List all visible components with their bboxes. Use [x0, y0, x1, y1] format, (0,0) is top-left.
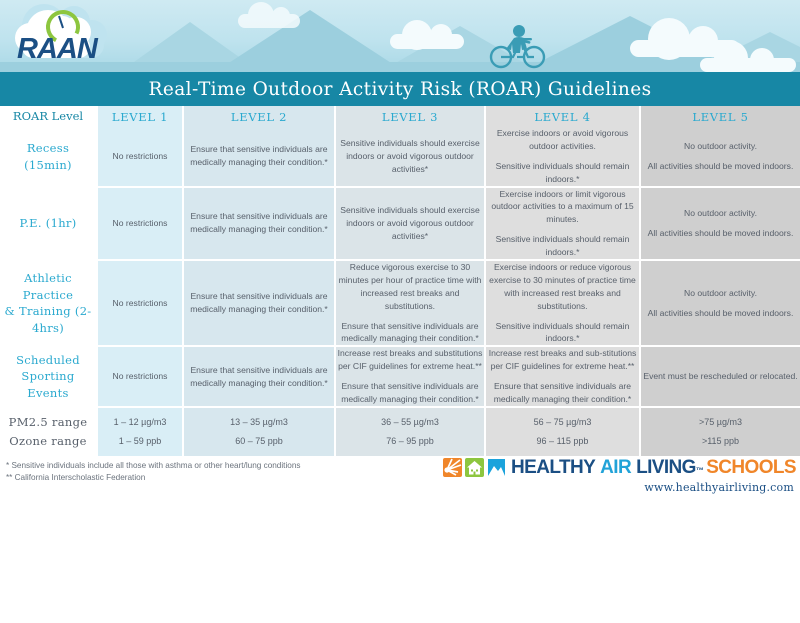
cell-text: Sensitive individuals should exercise in… — [336, 204, 484, 243]
cell-recess-level1: No restrictions — [97, 127, 183, 187]
cell-pe-level4: Exercise indoors or limit vigorous outdo… — [485, 187, 640, 260]
pm25-level3: 36 – 55 µg/m3 — [335, 407, 485, 432]
cell-athletic-level2: Ensure that sensitive individuals are me… — [183, 260, 335, 346]
column-header-level-4: LEVEL 4 — [485, 106, 640, 127]
column-header-roar-level: ROAR Level — [0, 106, 97, 127]
table-row: Recess (15min) No restrictions Ensure th… — [0, 127, 800, 187]
cell-text: Sensitive individuals should remain indo… — [486, 233, 639, 259]
cell-text: Exercise indoors or reduce vigorous exer… — [486, 261, 639, 313]
pm25-level1: 1 – 12 µg/m3 — [97, 407, 183, 432]
column-header-level-5: LEVEL 5 — [640, 106, 800, 127]
cell-text: Exercise indoors or limit vigorous outdo… — [486, 188, 639, 227]
cell-text: Increase rest breaks and substitutions p… — [336, 347, 484, 373]
cell-athletic-level3: Reduce vigorous exercise to 30 minutes p… — [335, 260, 485, 346]
cell-text: No outdoor activity. — [641, 207, 800, 220]
cell-pe-level3: Sensitive individuals should exercise in… — [335, 187, 485, 260]
cell-text: No restrictions — [98, 150, 182, 163]
cloud-icon — [700, 58, 796, 72]
footnote-line-1: * Sensitive individuals include all thos… — [6, 460, 300, 472]
house-icon — [465, 458, 484, 477]
website-url[interactable]: www.healthyairliving.com — [644, 481, 794, 494]
roar-guidelines-infographic: RAAN Real-Time Outdoor Activity Risk (RO… — [0, 0, 800, 623]
logo-word-schools: SCHOOLS — [706, 458, 796, 477]
cell-text: No restrictions — [98, 370, 182, 383]
row-label-line1: Recess — [0, 140, 96, 157]
cell-recess-level2: Ensure that sensitive individuals are me… — [183, 127, 335, 187]
row-label-scheduled-sporting-events: Scheduled Sporting Events — [0, 346, 97, 407]
cell-text: Ensure that sensitive individuals are me… — [184, 364, 334, 390]
row-label-recess: Recess (15min) — [0, 127, 97, 187]
page-title: Real-Time Outdoor Activity Risk (ROAR) G… — [149, 79, 652, 100]
cell-pe-level2: Ensure that sensitive individuals are me… — [183, 187, 335, 260]
ozone-level4: 96 – 115 ppb — [485, 432, 640, 456]
row-label-pe: P.E. (1hr) — [0, 187, 97, 260]
cell-athletic-level1: No restrictions — [97, 260, 183, 346]
cell-text: Sensitive individuals should exercise in… — [336, 137, 484, 176]
cell-events-level4: Increase rest breaks and sub-stitutions … — [485, 346, 640, 407]
cell-pe-level5: No outdoor activity. All activities shou… — [640, 187, 800, 260]
logo-wordmark: HEALTHY AIR LIVING ™ SCHOOLS — [511, 458, 796, 477]
cell-text: Ensure that sensitive individuals are me… — [486, 380, 639, 406]
cell-text: No restrictions — [98, 217, 182, 230]
healthy-air-living-schools-logo: HEALTHY AIR LIVING ™ SCHOOLS — [443, 458, 796, 477]
pm25-level5: >75 µg/m3 — [640, 407, 800, 432]
ozone-level5: >115 ppb — [640, 432, 800, 456]
ozone-level1: 1 – 59 ppb — [97, 432, 183, 456]
row-label-athletic-practice: Athletic Practice & Training (2-4hrs) — [0, 260, 97, 346]
cell-text: Sensitive individuals should remain indo… — [486, 160, 639, 186]
ozone-range-row: Ozone range 1 – 59 ppb 60 – 75 ppb 76 – … — [0, 432, 800, 456]
cell-athletic-level5: No outdoor activity. All activities shou… — [640, 260, 800, 346]
footnotes: * Sensitive individuals include all thos… — [6, 460, 300, 485]
title-bar: Real-Time Outdoor Activity Risk (ROAR) G… — [0, 72, 800, 106]
row-label-line2: Events — [0, 385, 96, 402]
cell-text: Increase rest breaks and sub-stitutions … — [486, 347, 639, 373]
cell-text: Ensure that sensitive individuals are me… — [336, 320, 484, 346]
logo-word-living: LIVING — [636, 458, 696, 477]
logo-icon-group — [443, 458, 506, 477]
cell-recess-level4: Exercise indoors or avoid vigorous outdo… — [485, 127, 640, 187]
logo-word-healthy: HEALTHY — [511, 458, 595, 477]
cell-recess-level5: No outdoor activity. All activities shou… — [640, 127, 800, 187]
cell-text: Ensure that sensitive individuals are me… — [336, 380, 484, 406]
row-label-line2: & Training (2-4hrs) — [0, 303, 96, 336]
cell-text: No outdoor activity. — [641, 287, 800, 300]
sun-icon — [443, 458, 462, 477]
column-header-level-3: LEVEL 3 — [335, 106, 485, 127]
cell-text: No restrictions — [98, 297, 182, 310]
column-header-level-2: LEVEL 2 — [183, 106, 335, 127]
cell-text: Ensure that sensitive individuals are me… — [184, 143, 334, 169]
cloud-icon — [390, 34, 464, 49]
table-row: Scheduled Sporting Events No restriction… — [0, 346, 800, 407]
mountain-water-icon — [487, 458, 506, 477]
pm25-level4: 56 – 75 µg/m3 — [485, 407, 640, 432]
row-label-pm25-range: PM2.5 range — [0, 407, 97, 432]
cell-text: Sensitive individuals should remain indo… — [486, 320, 639, 346]
logo-word-air: AIR — [600, 458, 631, 477]
trademark-icon: ™ — [696, 467, 703, 475]
footer: * Sensitive individuals include all thos… — [0, 456, 800, 500]
footnote-line-2: ** California Interscholastic Federation — [6, 472, 300, 484]
table-header-row: ROAR Level LEVEL 1 LEVEL 2 LEVEL 3 LEVEL… — [0, 106, 800, 127]
row-label-line1: Athletic Practice — [0, 270, 96, 303]
header-illustration: RAAN — [0, 0, 800, 72]
cell-athletic-level4: Exercise indoors or reduce vigorous exer… — [485, 260, 640, 346]
row-label-line1: Scheduled Sporting — [0, 352, 96, 385]
cell-text: Ensure that sensitive individuals are me… — [184, 290, 334, 316]
cell-events-level1: No restrictions — [97, 346, 183, 407]
cell-events-level3: Increase rest breaks and substitutions p… — [335, 346, 485, 407]
cell-text: All activities should be moved indoors. — [641, 227, 800, 240]
table-row: Athletic Practice & Training (2-4hrs) No… — [0, 260, 800, 346]
cell-events-level2: Ensure that sensitive individuals are me… — [183, 346, 335, 407]
cell-recess-level3: Sensitive individuals should exercise in… — [335, 127, 485, 187]
pm25-range-row: PM2.5 range 1 – 12 µg/m3 13 – 35 µg/m3 3… — [0, 407, 800, 432]
row-label-line1: P.E. (1hr) — [0, 215, 96, 232]
cell-text: All activities should be moved indoors. — [641, 307, 800, 320]
column-header-level-1: LEVEL 1 — [97, 106, 183, 127]
cell-text: Reduce vigorous exercise to 30 minutes p… — [336, 261, 484, 313]
cyclist-icon — [488, 24, 548, 72]
ozone-level2: 60 – 75 ppb — [183, 432, 335, 456]
roar-table: ROAR Level LEVEL 1 LEVEL 2 LEVEL 3 LEVEL… — [0, 106, 800, 456]
cell-events-level5: Event must be rescheduled or relocated. — [640, 346, 800, 407]
row-label-line2: (15min) — [0, 157, 96, 174]
cloud-icon — [238, 14, 300, 28]
pm25-level2: 13 – 35 µg/m3 — [183, 407, 335, 432]
cell-text: No outdoor activity. — [641, 140, 800, 153]
cell-text: Exercise indoors or avoid vigorous outdo… — [486, 127, 639, 153]
table-row: P.E. (1hr) No restrictions Ensure that s… — [0, 187, 800, 260]
svg-text:RAAN: RAAN — [17, 33, 99, 65]
cell-text: All activities should be moved indoors. — [641, 160, 800, 173]
raan-logo: RAAN — [8, 2, 126, 70]
cell-text: Event must be rescheduled or relocated. — [641, 370, 800, 383]
cell-pe-level1: No restrictions — [97, 187, 183, 260]
row-label-ozone-range: Ozone range — [0, 432, 97, 456]
ozone-level3: 76 – 95 ppb — [335, 432, 485, 456]
cell-text: Ensure that sensitive individuals are me… — [184, 210, 334, 236]
